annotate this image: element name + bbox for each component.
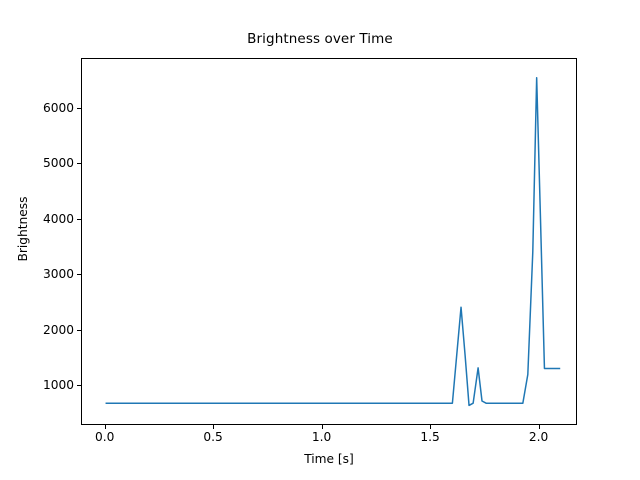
x-tick-mark bbox=[105, 425, 106, 429]
x-tick-mark bbox=[430, 425, 431, 429]
x-tick-label: 2.0 bbox=[529, 430, 548, 444]
y-tick-label: 5000 bbox=[43, 156, 74, 170]
x-tick-label: 1.5 bbox=[420, 430, 439, 444]
x-tick-label: 0.5 bbox=[203, 430, 222, 444]
y-tick-label: 2000 bbox=[43, 323, 74, 337]
x-tick-label: 1.0 bbox=[312, 430, 331, 444]
y-tick-label: 6000 bbox=[43, 101, 74, 115]
plot-area bbox=[81, 58, 577, 425]
y-axis-tick-labels: 100020003000400050006000 bbox=[0, 0, 74, 480]
chart-title: Brightness over Time bbox=[0, 31, 640, 47]
y-tick-label: 3000 bbox=[43, 267, 74, 281]
x-axis-label: Time [s] bbox=[81, 452, 577, 466]
x-tick-mark bbox=[322, 425, 323, 429]
x-tick-mark bbox=[213, 425, 214, 429]
x-tick-label: 0.0 bbox=[95, 430, 114, 444]
x-tick-mark bbox=[539, 425, 540, 429]
matplotlib-figure: Brightness over Time Brightness 10002000… bbox=[0, 0, 640, 480]
data-series-brightness bbox=[82, 59, 576, 424]
y-tick-label: 4000 bbox=[43, 212, 74, 226]
y-tick-label: 1000 bbox=[43, 378, 74, 392]
